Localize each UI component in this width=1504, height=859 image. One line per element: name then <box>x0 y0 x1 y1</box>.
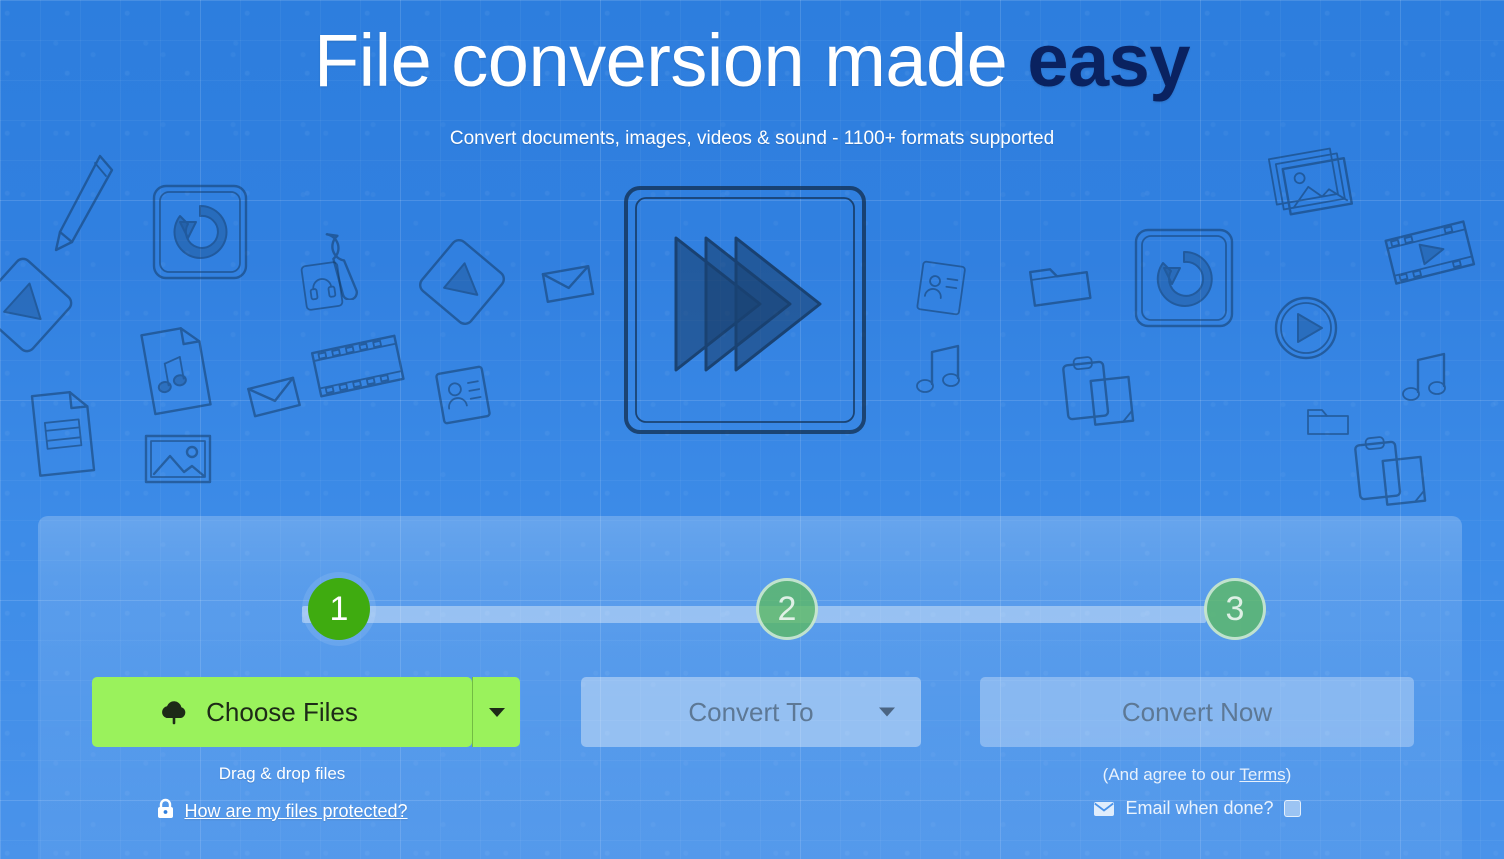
email-when-done-label: Email when done? <box>1125 798 1273 819</box>
refresh-card-icon <box>1128 222 1240 334</box>
choose-files-label: Choose Files <box>206 697 358 728</box>
convert-now-button[interactable]: Convert Now <box>980 677 1414 747</box>
contact-card-icon <box>912 258 970 320</box>
play-square-icon <box>0 250 80 360</box>
choose-files-dropdown-button[interactable] <box>472 677 520 747</box>
envelope-icon <box>246 375 302 419</box>
music-note-icon <box>908 340 970 400</box>
photos-stack-icon <box>1268 146 1358 224</box>
terms-agreement-note: (And agree to our Terms) <box>980 765 1414 785</box>
page-title-accent: easy <box>1027 19 1190 102</box>
action-button-row: Choose Files Convert To Convert Now <box>38 677 1462 757</box>
chevron-down-icon <box>489 708 505 717</box>
convert-now-label: Convert Now <box>1122 697 1272 728</box>
files-protected-link[interactable]: How are my files protected? <box>92 798 472 825</box>
image-icon <box>140 428 216 490</box>
mov-file-icon <box>24 385 104 481</box>
folder-icon <box>1302 400 1354 442</box>
cloud-upload-icon <box>158 699 190 725</box>
terms-prefix: (And agree to our <box>1103 765 1240 784</box>
refresh-square-icon <box>146 178 254 286</box>
step-number-2: 2 <box>778 592 797 626</box>
page-root: File conversion made easy Convert docume… <box>0 0 1504 859</box>
mp3-file-icon <box>132 320 218 420</box>
choose-files-button[interactable]: Choose Files <box>92 677 472 747</box>
step-number-3: 3 <box>1226 592 1245 626</box>
clipboard-icon <box>1058 352 1142 434</box>
lock-icon <box>156 798 175 825</box>
step-circle-1[interactable]: 1 <box>308 578 370 640</box>
page-subtitle: Convert documents, images, videos & soun… <box>0 128 1504 150</box>
music-note-icon <box>1396 348 1458 408</box>
terms-suffix: ) <box>1286 765 1292 784</box>
step-number-1: 1 <box>330 592 349 626</box>
convert-to-button[interactable]: Convert To <box>581 677 921 747</box>
chevron-down-icon <box>879 708 895 717</box>
files-protected-link-label: How are my files protected? <box>184 801 407 822</box>
play-square-icon <box>412 232 512 332</box>
email-when-done-checkbox[interactable] <box>1284 800 1301 817</box>
step-circle-2[interactable]: 2 <box>756 578 818 640</box>
convert-to-label: Convert To <box>688 697 813 728</box>
page-title-main: File conversion made <box>314 19 1007 102</box>
envelope-icon <box>540 262 596 306</box>
page-title: File conversion made easy <box>0 20 1504 101</box>
filmstrip-icon <box>1384 218 1480 288</box>
contact-card-icon <box>432 362 494 428</box>
headphone-card-icon <box>296 258 348 314</box>
wrench-icon <box>306 230 386 300</box>
step-indicator: 1 2 3 <box>270 578 1238 650</box>
drag-drop-hint: Drag & drop files <box>92 764 472 784</box>
clipboard-icon <box>1350 432 1434 514</box>
converter-panel: 1 2 3 Choose Files <box>38 516 1462 859</box>
envelope-icon <box>1093 801 1115 817</box>
email-when-done-row: Email when done? <box>980 798 1414 819</box>
fast-forward-video-sketch-icon <box>614 176 876 444</box>
terms-link[interactable]: Terms <box>1239 765 1285 784</box>
step-circle-3[interactable]: 3 <box>1204 578 1266 640</box>
play-circle-icon <box>1268 290 1344 366</box>
folder-icon <box>1024 254 1096 312</box>
step-progress-bar <box>302 606 1206 623</box>
pencil-icon <box>48 150 118 260</box>
filmstrip-icon <box>310 332 406 402</box>
